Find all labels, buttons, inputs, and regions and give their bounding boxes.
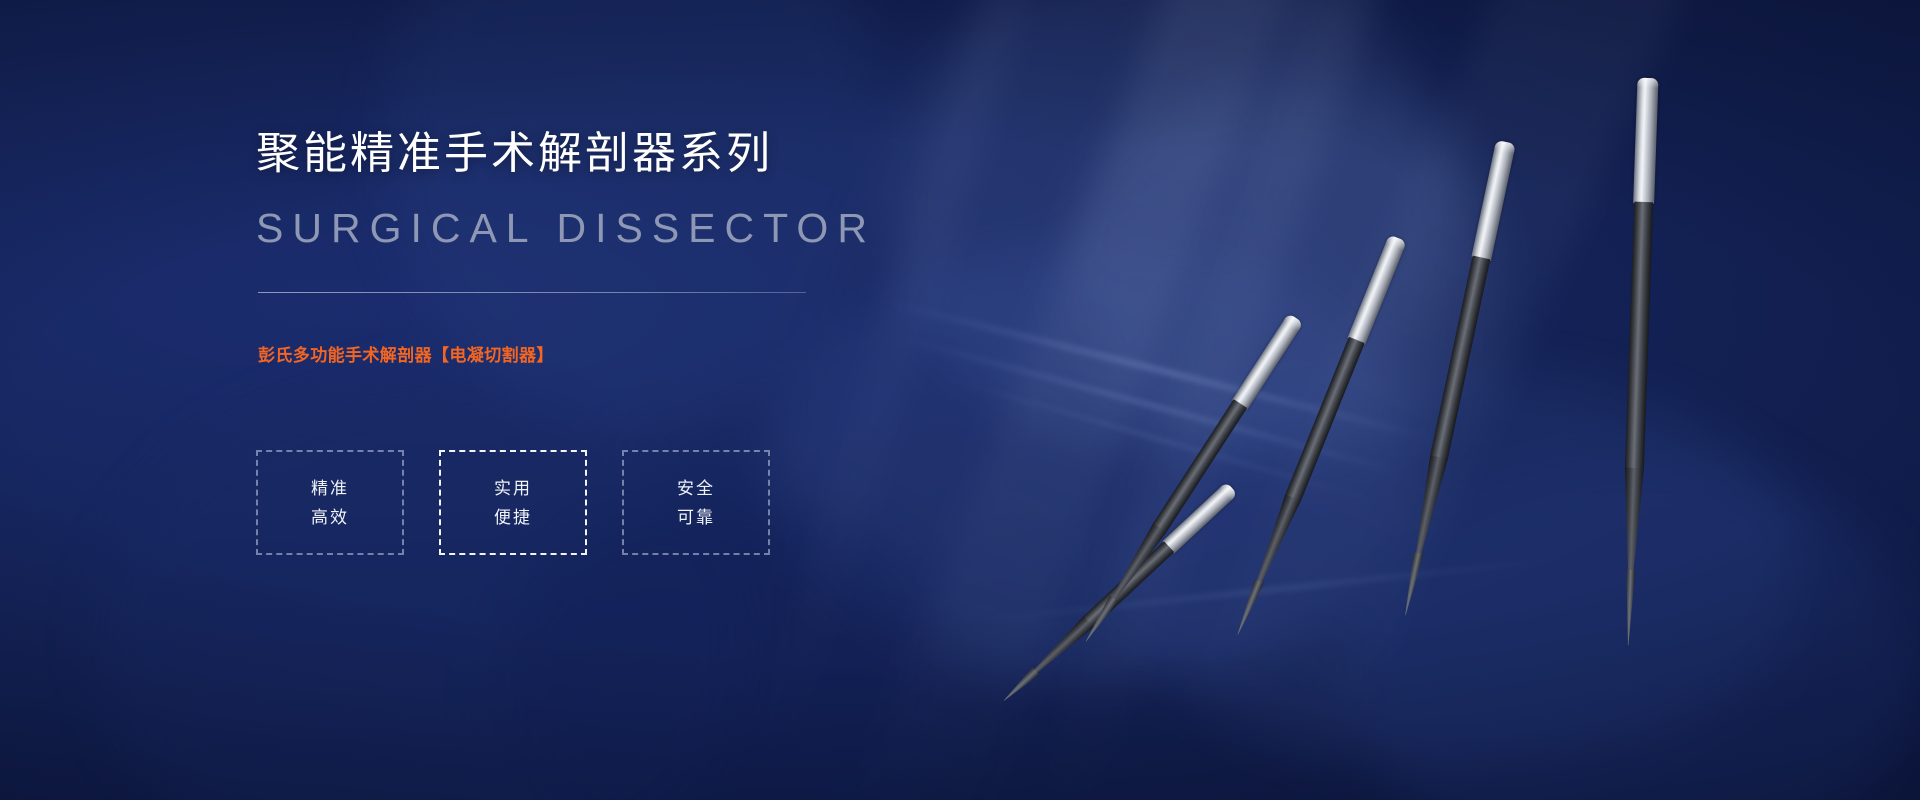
feature-badge-anquan-kekao[interactable]: 安全 可靠 <box>622 450 770 555</box>
page-subtitle-english: SURGICAL DISSECTOR <box>256 206 876 251</box>
product-name-label: 彭氏多功能手术解剖器【电凝切割器】 <box>258 341 554 366</box>
feature-badge-line-1: 精准 <box>311 480 349 497</box>
product-banner: 聚能精准手术解剖器系列 SURGICAL DISSECTOR 彭氏多功能手术解剖… <box>0 0 1920 800</box>
feature-badge-list: 精准 高效 实用 便捷 安全 可靠 <box>256 450 770 555</box>
feature-badge-jingzhun-gaoxiao[interactable]: 精准 高效 <box>256 450 404 555</box>
feature-badge-line-2: 高效 <box>311 509 349 526</box>
page-title: 聚能精准手术解剖器系列 <box>256 130 773 178</box>
feature-badge-line-1: 实用 <box>494 480 532 497</box>
banner-content: 聚能精准手术解剖器系列 SURGICAL DISSECTOR 彭氏多功能手术解剖… <box>256 0 1016 800</box>
divider <box>258 292 806 293</box>
feature-badge-line-1: 安全 <box>677 480 715 497</box>
feature-badge-shiyong-bianjie[interactable]: 实用 便捷 <box>439 450 587 555</box>
feature-badge-line-2: 可靠 <box>677 509 715 526</box>
feature-badge-line-2: 便捷 <box>494 509 532 526</box>
